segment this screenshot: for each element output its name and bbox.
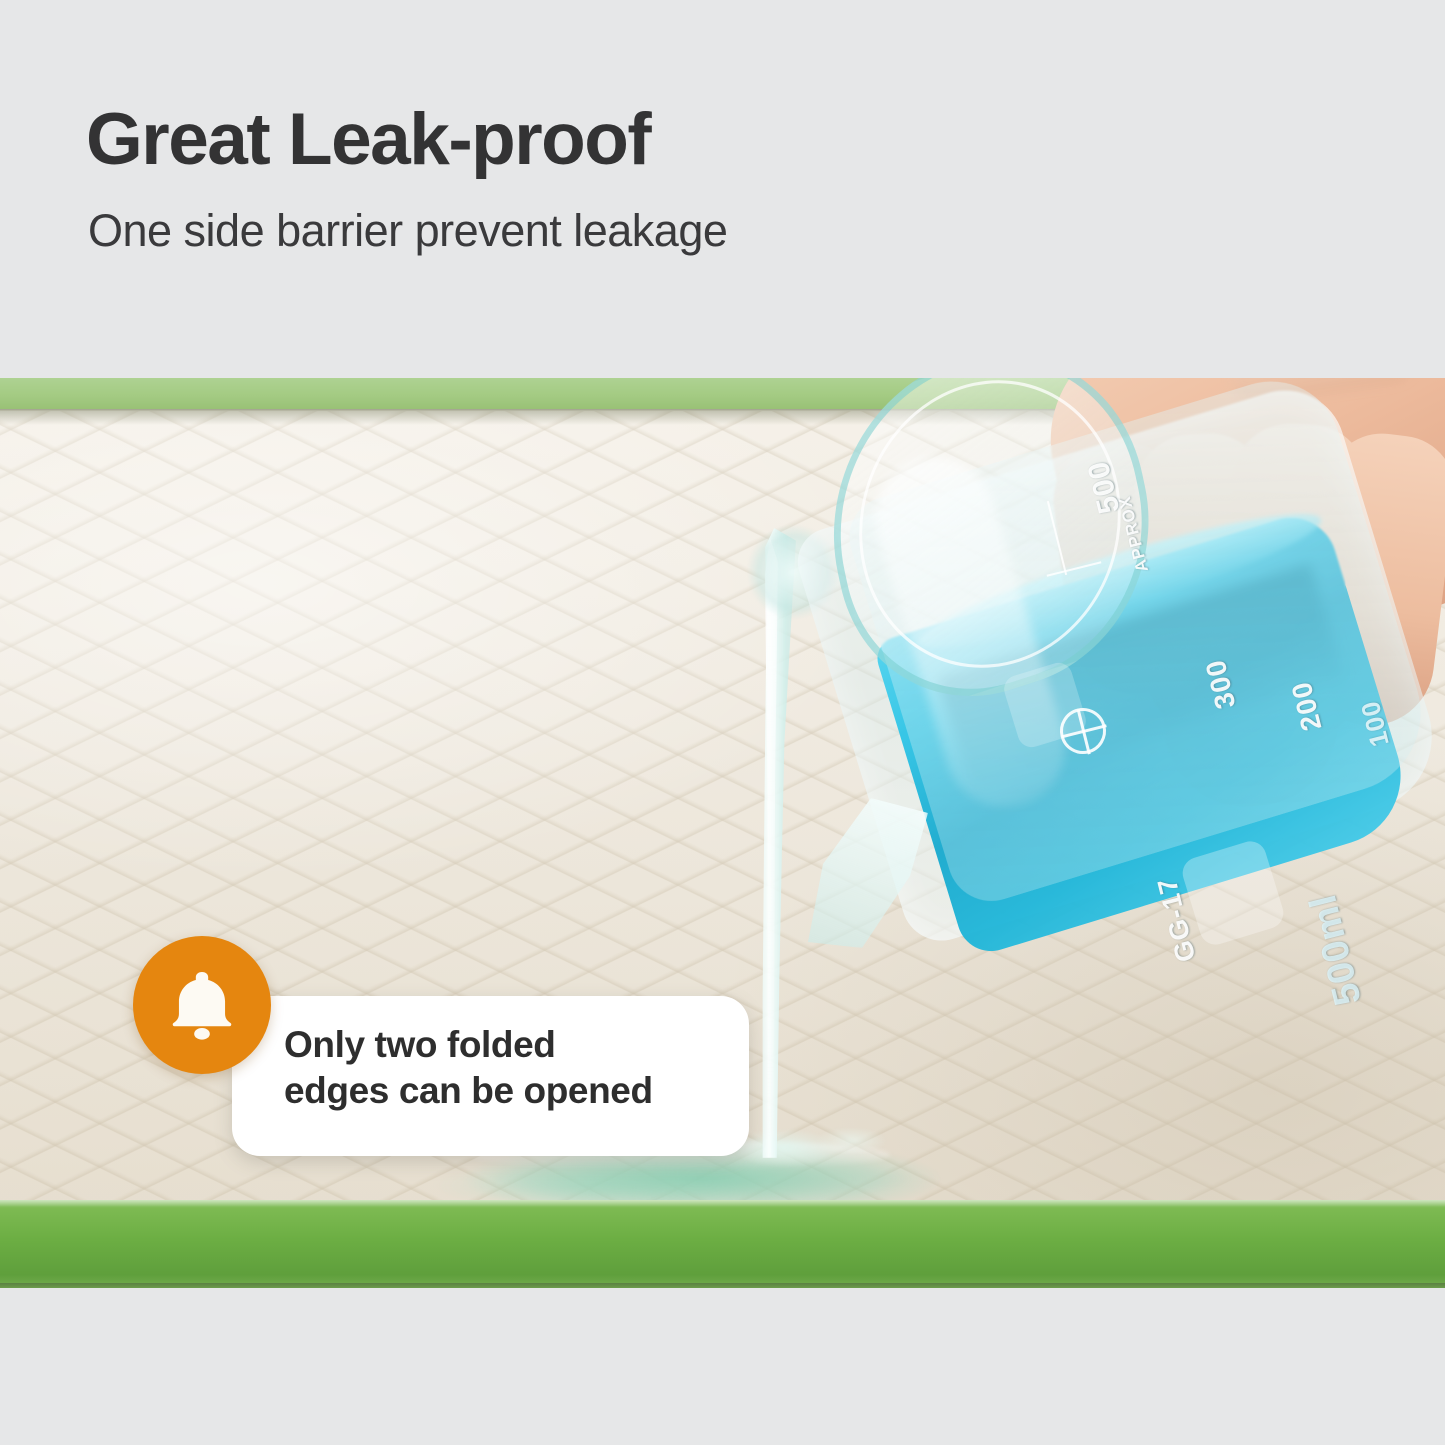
callout-line-1: Only two folded [284, 1022, 754, 1068]
barrier-edge-bottom-highlight [0, 1200, 1445, 1207]
product-feature-image: Great Leak-proof One side barrier preven… [0, 0, 1445, 1445]
barrier-edge-bottom [0, 1200, 1445, 1288]
barrier-edge-bottom-shadow [0, 1283, 1445, 1288]
callout-text: Only two folded edges can be opened [284, 1022, 754, 1114]
bell-icon [169, 970, 235, 1040]
product-photo: 500 APPROX 300 200 100 GG-17 500ml Only … [0, 378, 1445, 1288]
hand-with-beaker: 500 APPROX 300 200 100 GG-17 500ml [760, 378, 1445, 1068]
feature-callout: Only two folded edges can be opened [133, 936, 753, 1161]
callout-badge [133, 936, 271, 1074]
page-subtitle: One side barrier prevent leakage [88, 205, 727, 257]
header-band: Great Leak-proof One side barrier preven… [0, 0, 1445, 378]
page-title: Great Leak-proof [86, 103, 650, 176]
callout-line-2: edges can be opened [284, 1068, 754, 1114]
